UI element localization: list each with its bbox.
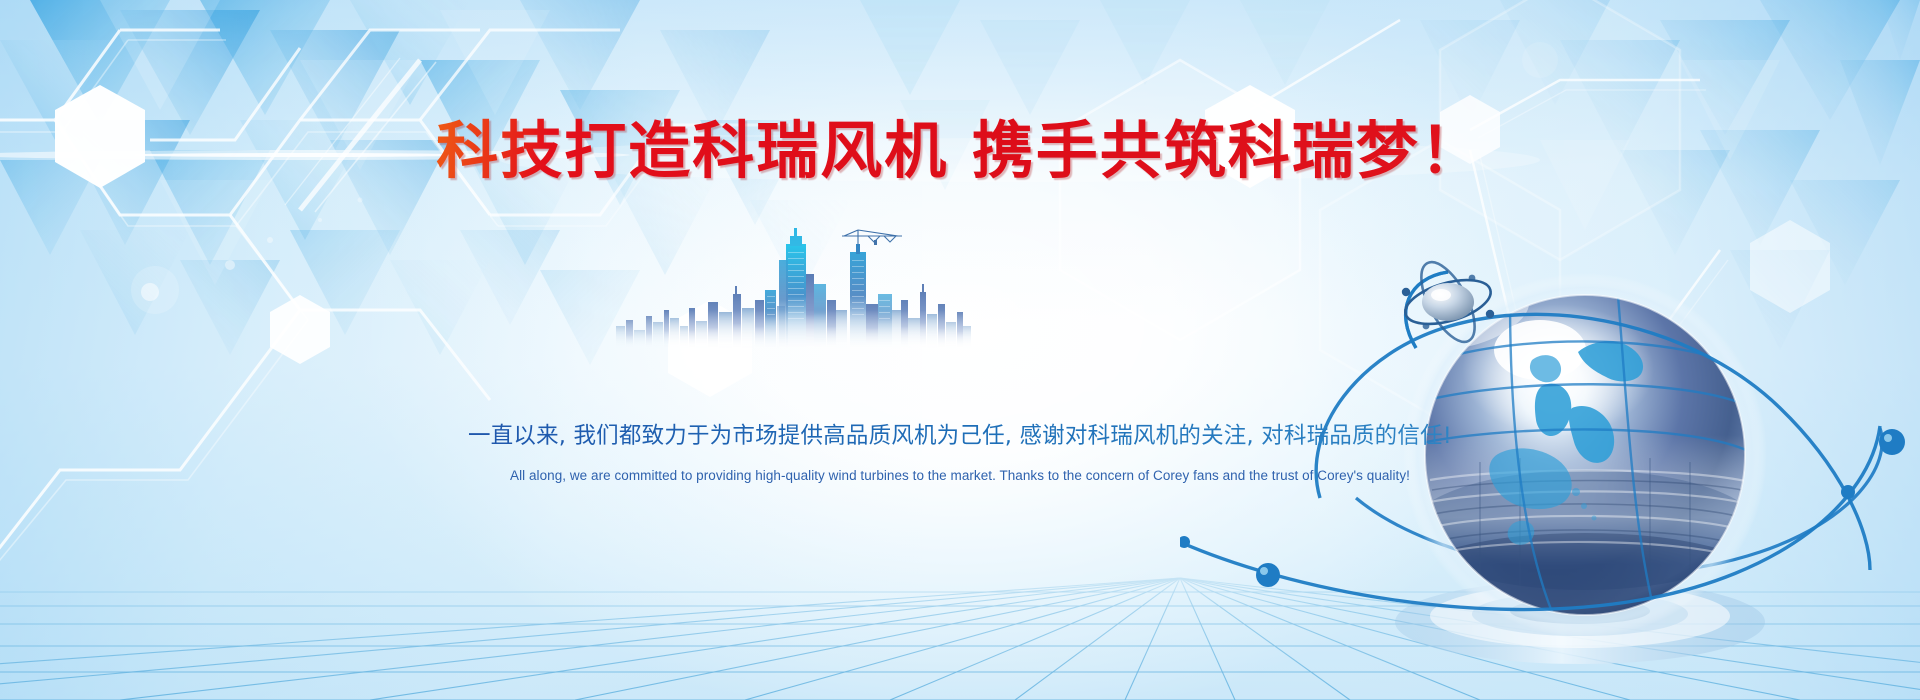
page-title: 科技打造科瑞风机 携手共筑科瑞梦！ (0, 118, 1920, 183)
headline-text: 科技打造科瑞风机 携手共筑科瑞梦！ (436, 118, 1484, 183)
subtitle-english: All along, we are committed to providing… (0, 468, 1920, 483)
chrome-globe-illustration (1180, 230, 1920, 700)
subtitle-chinese: 一直以来, 我们都致力于为市场提供高品质风机为己任, 感谢对科瑞风机的关注, 对… (0, 418, 1920, 450)
background-left-wash (0, 0, 922, 700)
hero-banner: 科技打造科瑞风机 携手共筑科瑞梦！ 科技打造科瑞风机 携手共筑科瑞梦！ 一直以来… (0, 0, 1920, 700)
city-skyline-illustration (612, 222, 972, 348)
